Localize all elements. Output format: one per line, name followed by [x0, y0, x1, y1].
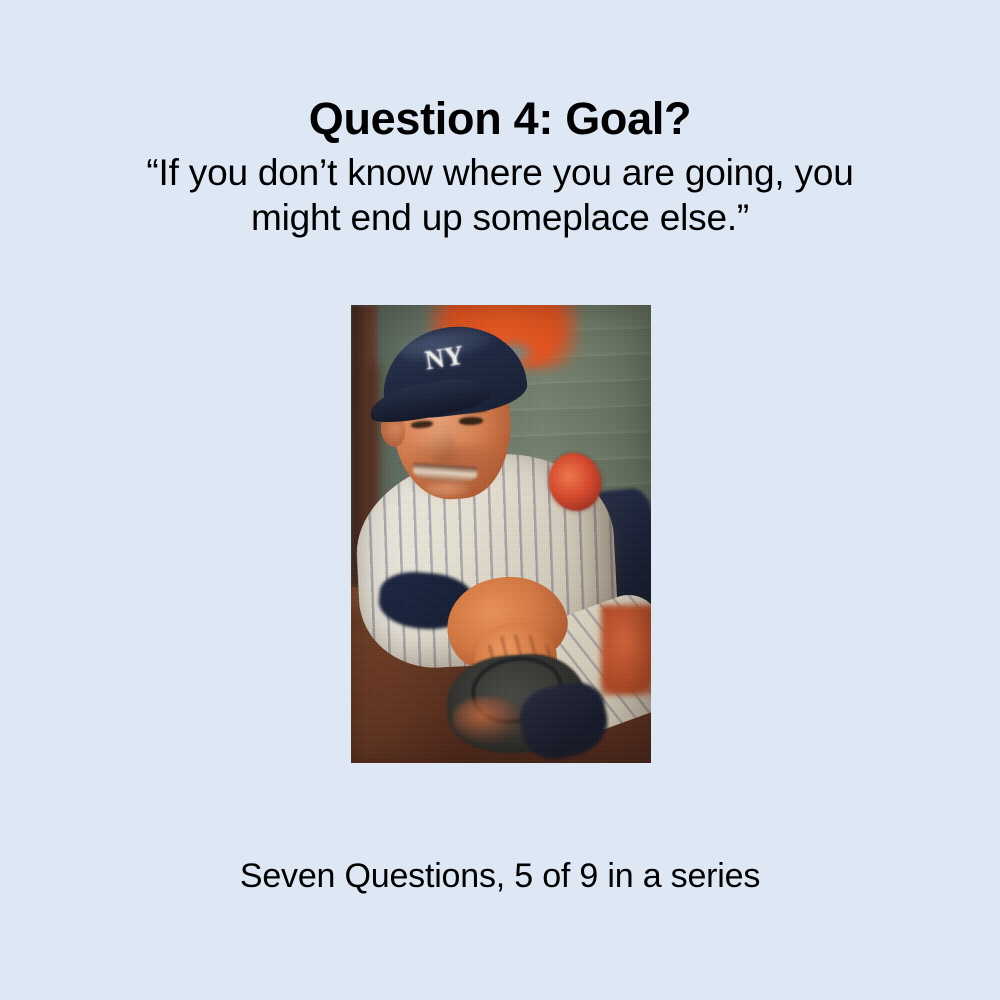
slide-canvas: Question 4: Goal? “If you don’t know whe… [0, 0, 1000, 1000]
footer-series-label: Seven Questions, 5 of 9 in a series [0, 857, 1000, 896]
quote-line-2: might end up someplace else.” [0, 195, 1000, 240]
photo-artwork: NY [351, 305, 651, 763]
title-block: Question 4: Goal? “If you don’t know whe… [0, 96, 1000, 240]
quote-line-1: “If you don’t know where you are going, … [0, 150, 1000, 195]
photo-baseball-catcher: NY [351, 305, 651, 763]
chin-highlight [423, 481, 469, 497]
nose [429, 429, 455, 463]
quote-text: “If you don’t know where you are going, … [0, 141, 1000, 240]
page-title: Question 4: Goal? [0, 96, 1000, 141]
right-arm-blur [601, 605, 651, 695]
mitt-highlight [453, 697, 523, 743]
cap-ny-logo: NY [423, 341, 462, 378]
